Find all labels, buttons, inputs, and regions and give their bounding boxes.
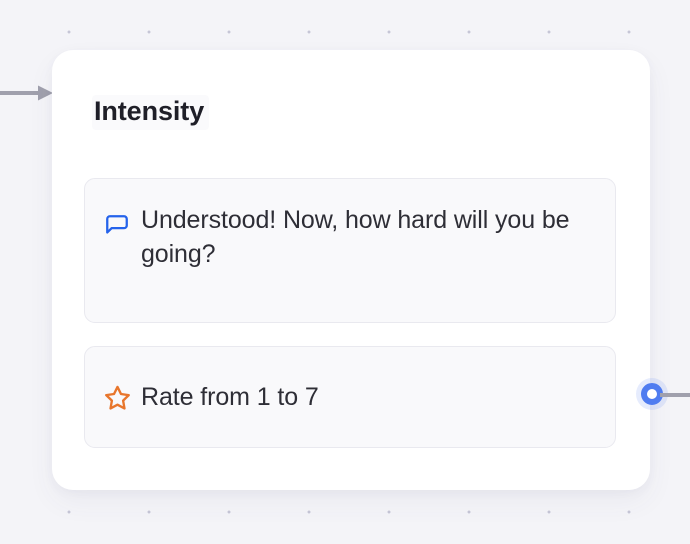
node-field-rating[interactable]: Rate from 1 to 7	[84, 346, 616, 448]
node-field-message[interactable]: Understood! Now, how hard will you be go…	[84, 178, 616, 323]
star-icon	[102, 382, 132, 412]
output-connection-handle[interactable]	[641, 383, 663, 405]
outgoing-connection-line	[660, 386, 690, 404]
page-title: Intensity	[92, 95, 209, 130]
node-field-message-text: Understood! Now, how hard will you be go…	[141, 195, 597, 272]
flow-node-card[interactable]: Intensity Understood! Now, how hard will…	[52, 50, 650, 490]
incoming-connection-arrow	[0, 84, 56, 102]
message-square-icon	[102, 211, 132, 241]
node-field-rating-text: Rate from 1 to 7	[141, 380, 597, 414]
flow-canvas[interactable]: Intensity Understood! Now, how hard will…	[0, 0, 690, 544]
